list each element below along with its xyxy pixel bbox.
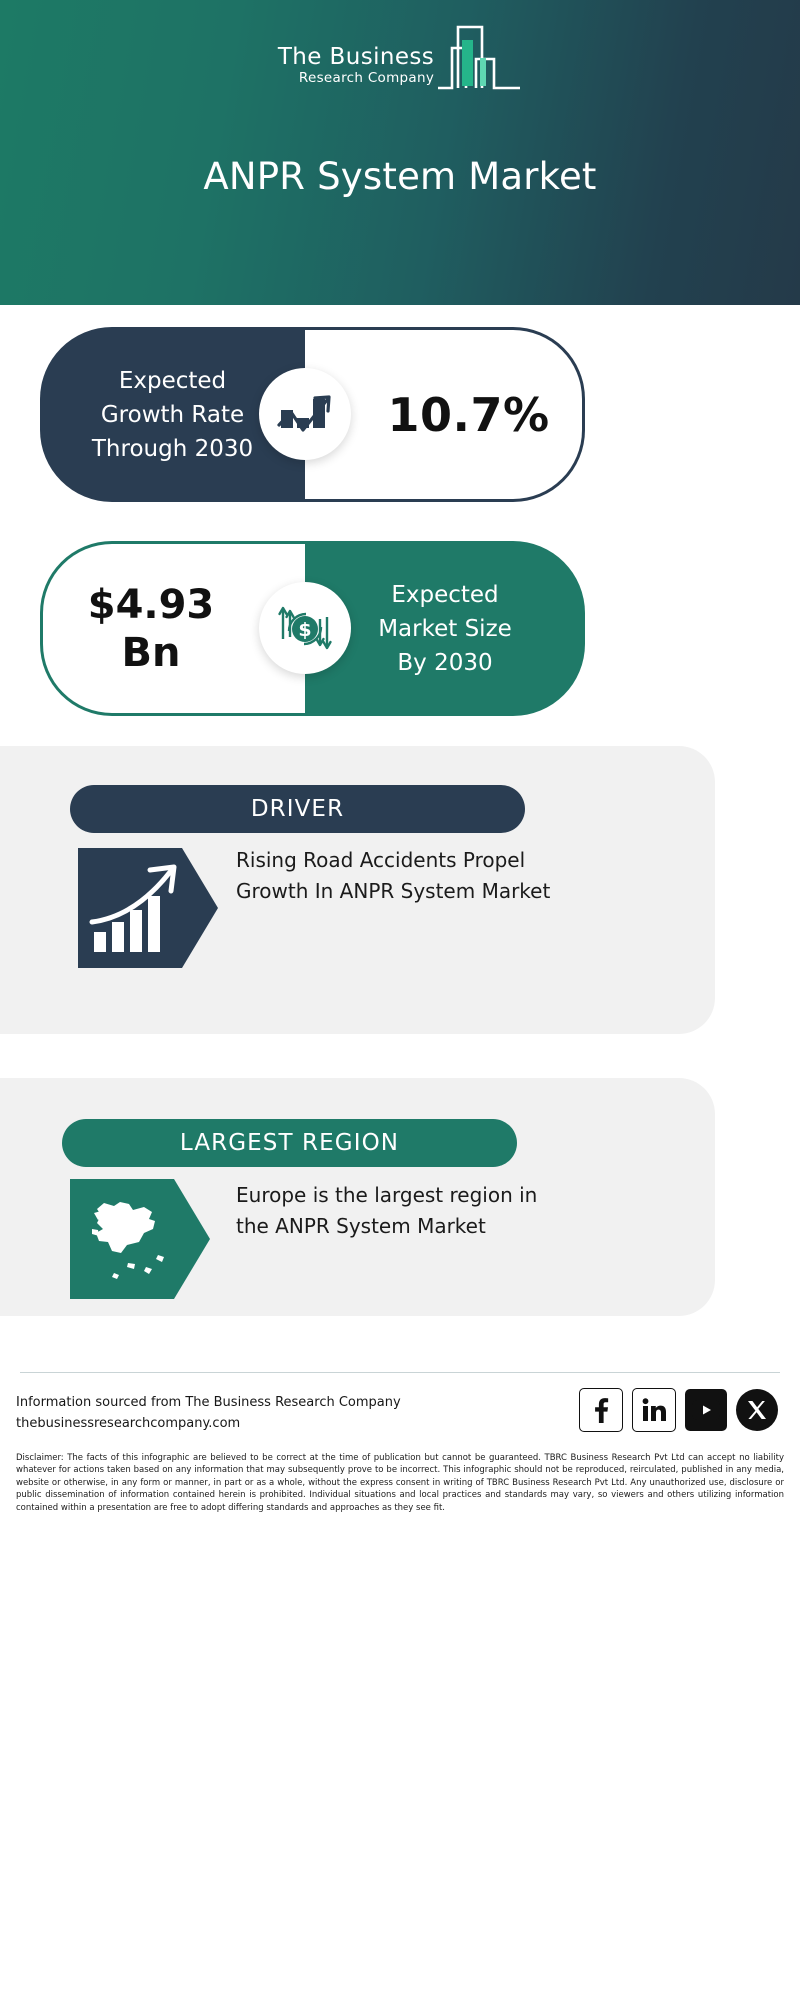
market-size-label-line-1: Expected [391, 578, 498, 612]
footer-divider [20, 1372, 780, 1373]
footer-source-line-1: Information sourced from The Business Re… [16, 1392, 446, 1413]
facebook-icon[interactable] [579, 1388, 623, 1432]
growth-rate-value: 10.7% [337, 388, 549, 442]
svg-text:$: $ [298, 619, 311, 641]
footer-source-website[interactable]: thebusinessresearchcompany.com [16, 1413, 446, 1434]
driver-description: Rising Road Accidents Propel Growth In A… [236, 845, 586, 907]
bar-chart-growth-arrow-icon [78, 848, 218, 968]
growth-bar-arrow-icon [259, 368, 351, 460]
largest-region-description-line-1: Europe is the largest region in [236, 1180, 581, 1211]
stat-card-growth-rate: Expected Growth Rate Through 2030 10.7% [40, 327, 585, 502]
brand-name-secondary: Research Company [299, 70, 434, 86]
disclaimer-text: Disclaimer: The facts of this infographi… [16, 1452, 784, 1514]
stat-card-market-size: $4.93 Bn Expected Market Size By 2030 $ [40, 541, 585, 716]
social-links [579, 1388, 778, 1432]
youtube-icon[interactable] [685, 1389, 727, 1431]
driver-description-line-1: Rising Road Accidents Propel [236, 845, 586, 876]
brand-logo: The Business Research Company [0, 18, 800, 90]
largest-region-heading-pill: LARGEST REGION [62, 1119, 517, 1167]
page-title: ANPR System Market [0, 155, 800, 198]
market-size-value-line-2: Bn [88, 629, 215, 677]
brand-logo-text: The Business Research Company [278, 45, 434, 90]
infographic-page: The Business Research Company ANPR Syste… [0, 0, 800, 2000]
europe-map-icon [70, 1179, 210, 1299]
linkedin-icon[interactable] [632, 1388, 676, 1432]
growth-rate-label-line-2: Growth Rate [101, 398, 244, 432]
driver-heading-pill: DRIVER [70, 785, 525, 833]
largest-region-description-line-2: the ANPR System Market [236, 1211, 581, 1242]
driver-description-line-2: Growth In ANPR System Market [236, 876, 586, 907]
market-size-value-line-1: $4.93 [88, 581, 215, 629]
header-banner: The Business Research Company ANPR Syste… [0, 0, 800, 305]
market-size-label-line-2: Market Size [378, 612, 512, 646]
growth-rate-label-line-3: Through 2030 [92, 432, 253, 466]
footer-source: Information sourced from The Business Re… [16, 1392, 446, 1434]
growth-rate-label-line-1: Expected [119, 364, 226, 398]
bar-chart-logo-icon [436, 18, 522, 90]
x-twitter-icon[interactable] [736, 1389, 778, 1431]
market-size-label-line-3: By 2030 [397, 646, 492, 680]
brand-name-primary: The Business [278, 45, 434, 70]
dollar-cycle-icon: $ [259, 582, 351, 674]
largest-region-description: Europe is the largest region in the ANPR… [236, 1180, 581, 1242]
